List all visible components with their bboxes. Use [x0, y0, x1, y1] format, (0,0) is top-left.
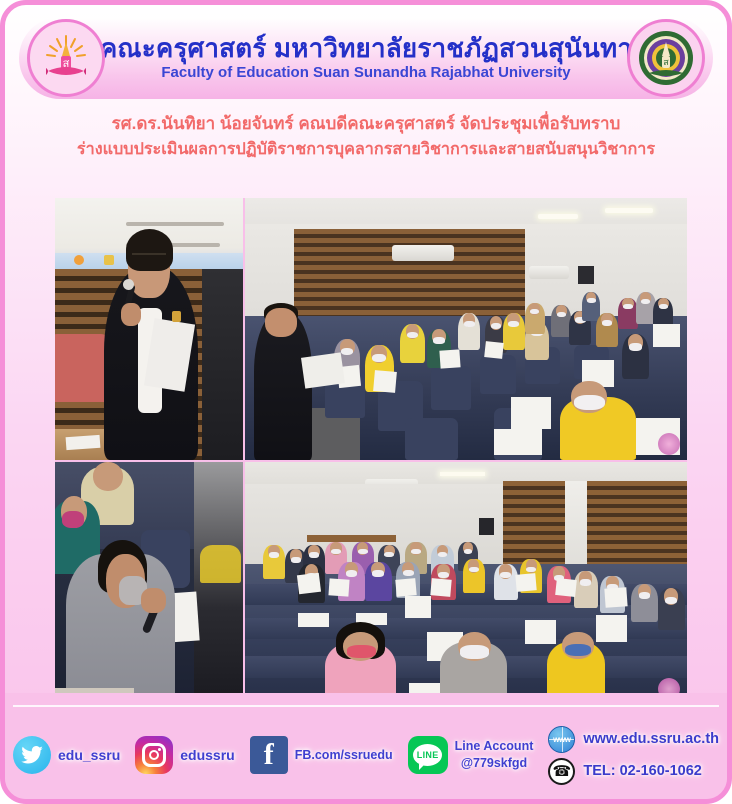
header-title-english: Faculty of Education Suan Sunandha Rajab… — [100, 65, 632, 81]
instagram-icon — [135, 736, 173, 774]
footer-website[interactable]: www www.edu.ssru.ac.th — [548, 726, 719, 753]
svg-text:ส: ส — [663, 57, 669, 67]
photo-watermark — [658, 433, 680, 455]
footer-instagram-handle: edussru — [180, 747, 234, 763]
photo-collage — [55, 198, 687, 703]
footer-facebook-url: FB.com/ssruedu — [295, 748, 393, 762]
ssru-university-seal-icon: ส — [627, 19, 705, 97]
line-icon-label: LINE — [413, 744, 442, 766]
photo-participant-microphone — [55, 462, 243, 703]
photo-dean-speaking — [55, 198, 243, 460]
header-banner: ส คณะครุศาสตร์ มหาวิทยาลัยราชภัฏสวนสุนัน… — [19, 17, 713, 99]
poster-root: ส คณะครุศาสตร์ มหาวิทยาลัยราชภัฏสวนสุนัน… — [0, 0, 732, 804]
footer-line-account: @779skfgd — [455, 755, 534, 772]
footer-phone-number: TEL: 02-160-1062 — [583, 763, 701, 779]
footer-divider — [13, 705, 719, 707]
footer-contact-group: www www.edu.ssru.ac.th ☎ TEL: 02-160-106… — [548, 726, 719, 785]
announcement-line-2: ร่างแบบประเมินผลการปฏิบัติราชการบุคลากรส… — [23, 137, 709, 161]
footer-phone[interactable]: ☎ TEL: 02-160-1062 — [548, 758, 719, 785]
facebook-icon: f — [250, 736, 288, 774]
photo-auditorium-audience — [245, 462, 687, 703]
twitter-icon — [13, 736, 51, 774]
photo-lecture-hall-wide — [245, 198, 687, 460]
header-title-thai: คณะครุศาสตร์ มหาวิทยาลัยราชภัฏสวนสุนันทา — [100, 35, 632, 62]
footer-twitter-handle: edu_ssru — [58, 747, 120, 763]
footer-facebook[interactable]: f FB.com/ssruedu — [250, 736, 393, 774]
announcement-line-1: รศ.ดร.นันทิยา น้อยจันทร์ คณบดีคณะครุศาสต… — [23, 111, 709, 137]
www-globe-icon: www — [548, 726, 575, 753]
footer-twitter[interactable]: edu_ssru — [13, 736, 120, 774]
announcement-text: รศ.ดร.นันทิยา น้อยจันทร์ คณบดีคณะครุศาสต… — [23, 111, 709, 161]
footer-instagram[interactable]: edussru — [135, 736, 234, 774]
phone-icon: ☎ — [548, 758, 575, 785]
footer-website-url: www.edu.ssru.ac.th — [583, 731, 719, 747]
line-icon: LINE — [408, 736, 448, 774]
ssru-crown-emblem-icon: ส — [27, 19, 105, 97]
footer-line[interactable]: LINE Line Account @779skfgd — [408, 736, 534, 774]
footer-contact-bar: edu_ssru edussru f FB.com/ssruedu LINE — [5, 693, 727, 799]
footer-line-title: Line Account — [455, 738, 534, 755]
header-title-group: คณะครุศาสตร์ มหาวิทยาลัยราชภัฏสวนสุนันทา… — [10, 35, 722, 81]
